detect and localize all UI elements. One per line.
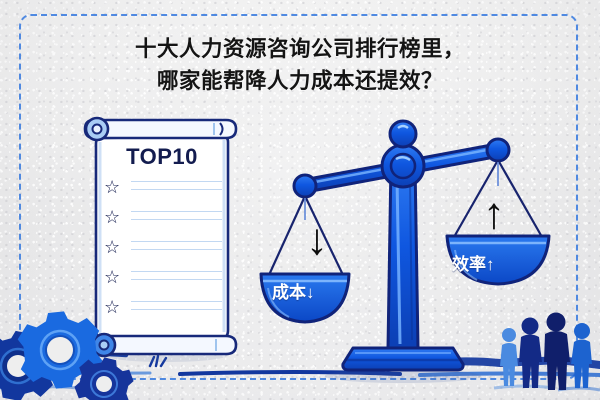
list-item: ☆ — [104, 268, 224, 284]
person-silhouette — [500, 328, 518, 386]
list-item: ☆ — [104, 208, 224, 224]
people-silhouettes — [494, 300, 600, 400]
cost-pan-label: 成本↓ — [272, 278, 315, 303]
star-icon: ☆ — [104, 238, 123, 257]
list-item-lines — [131, 211, 222, 227]
arrow-up-icon: ↑ — [483, 192, 505, 236]
list-item-lines — [131, 181, 222, 197]
star-icon: ☆ — [104, 178, 123, 197]
efficiency-pan-label: 效率↑ — [452, 250, 495, 275]
person-silhouette — [544, 313, 570, 391]
illustration-canvas: 十大人力资源咨询公司排行榜里， 哪家能帮降人力成本还提效？ TOP10 — [0, 0, 600, 400]
person-silhouette — [571, 323, 592, 388]
list-item: ☆ — [104, 238, 224, 254]
list-item-lines — [131, 271, 222, 287]
star-icon: ☆ — [104, 208, 123, 227]
gears-cluster — [0, 300, 126, 400]
list-item: ☆ — [104, 178, 224, 194]
star-icon: ☆ — [104, 268, 123, 287]
arrow-down-icon: ↓ — [306, 218, 328, 262]
list-item-lines — [131, 241, 222, 257]
list-item-lines — [131, 301, 222, 317]
page-title: 十大人力资源咨询公司排行榜里， 哪家能帮降人力成本还提效？ — [0, 33, 600, 97]
people-graphic — [494, 300, 600, 400]
top10-heading: TOP10 — [86, 144, 238, 170]
person-silhouette — [519, 318, 542, 389]
title-line-1: 十大人力资源咨询公司排行榜里， — [0, 33, 600, 65]
gears-graphic — [0, 300, 126, 400]
title-line-2: 哪家能帮降人力成本还提效？ — [0, 65, 600, 97]
